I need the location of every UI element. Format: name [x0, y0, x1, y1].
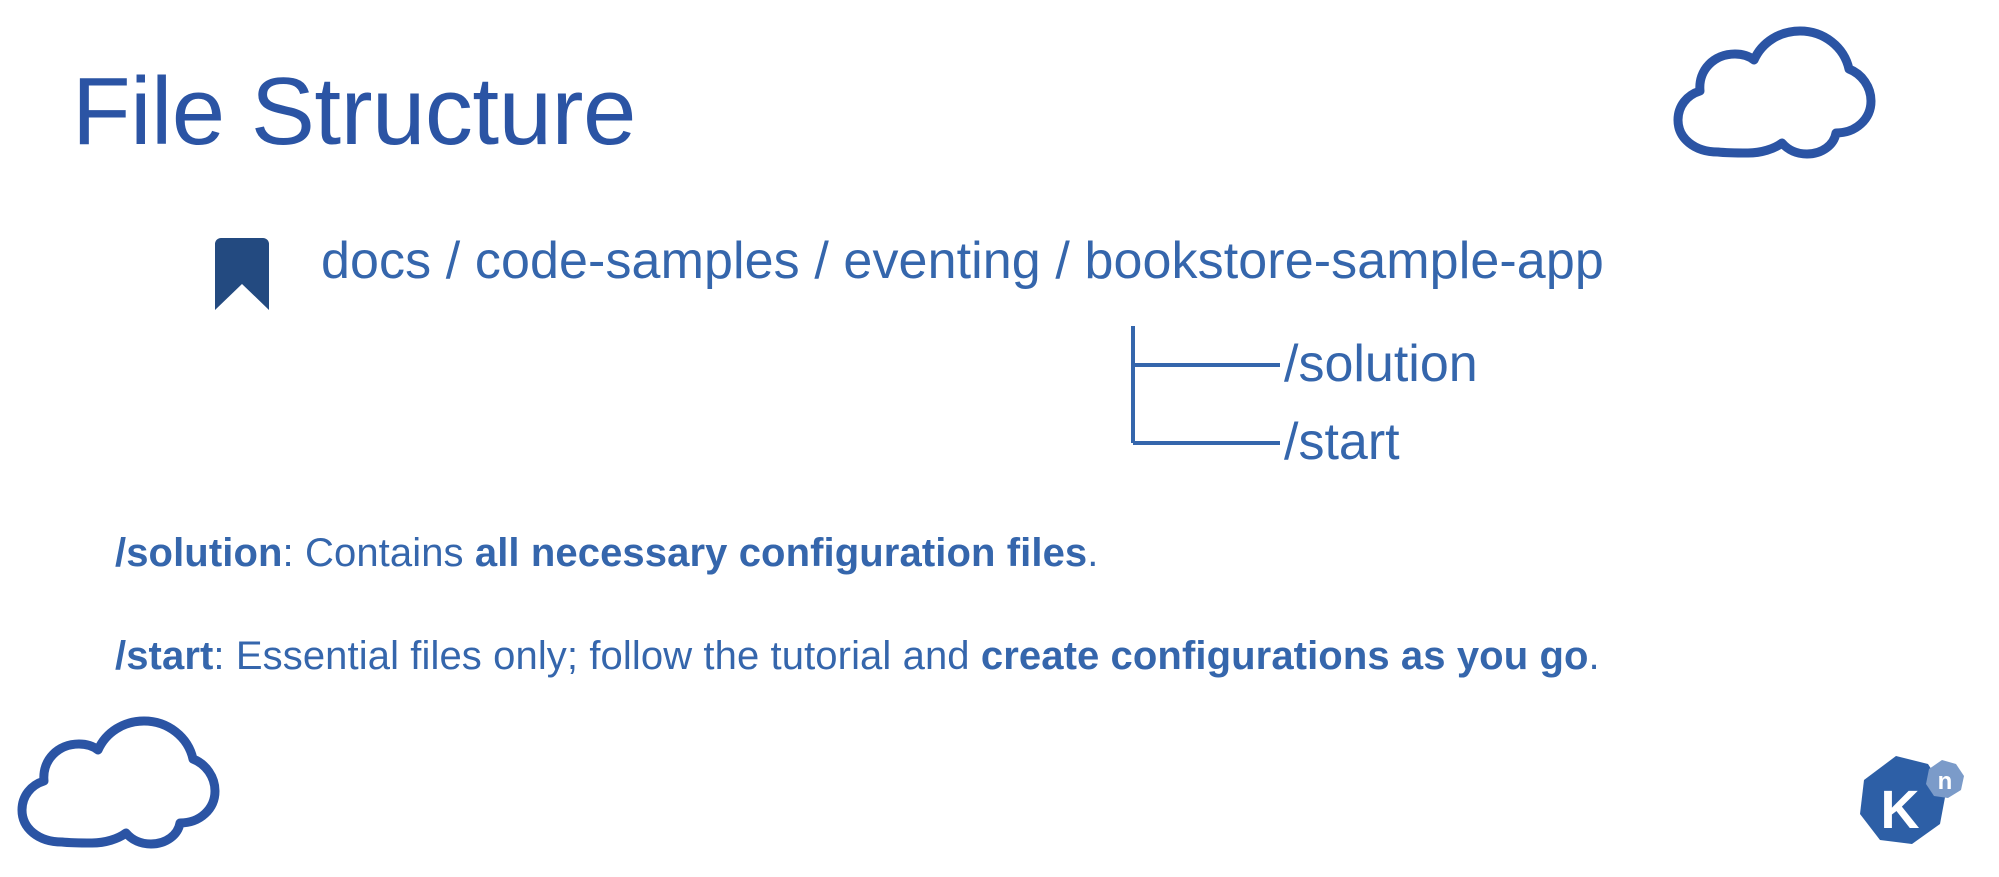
description-emphasis-solution: all necessary configuration files: [475, 531, 1087, 575]
knative-logo: K n: [1848, 752, 1966, 854]
tree-branch-tee-icon: [1130, 326, 1282, 404]
description-lead-solution: Contains: [305, 531, 475, 575]
description-lead-start: Essential files only; follow the tutoria…: [236, 634, 981, 678]
knative-logo-letter-n: n: [1938, 768, 1953, 795]
description-term-start: /start: [115, 634, 213, 678]
tree-item-label-start: /start: [1284, 414, 1400, 471]
description-solution: /solution: Contains all necessary config…: [115, 531, 1099, 576]
slide-canvas: File Structure docs / code-samples / eve…: [0, 0, 1999, 877]
description-emphasis-start: create configurations as you go: [981, 634, 1589, 678]
cloud-icon: [1664, 26, 1876, 166]
bookmark-icon: [215, 238, 269, 310]
description-tail-solution: .: [1087, 531, 1098, 575]
cloud-icon: [8, 716, 220, 856]
knative-logo-letter-k: K: [1881, 780, 1920, 840]
breadcrumb-path-text: docs / code-samples / eventing / booksto…: [321, 232, 1604, 292]
description-tail-start: .: [1589, 634, 1600, 678]
tree-item-start: /start: [1130, 404, 1400, 482]
description-start: /start: Essential files only; follow the…: [115, 634, 1600, 679]
description-separator-solution: :: [283, 531, 305, 575]
page-title: File Structure: [72, 62, 636, 163]
breadcrumb: docs / code-samples / eventing / booksto…: [215, 232, 1604, 310]
description-separator-start: :: [213, 634, 235, 678]
description-term-solution: /solution: [115, 531, 283, 575]
tree-item-solution: /solution: [1130, 326, 1478, 404]
tree-branch-elbow-icon: [1130, 404, 1282, 482]
tree-item-label-solution: /solution: [1284, 336, 1478, 393]
